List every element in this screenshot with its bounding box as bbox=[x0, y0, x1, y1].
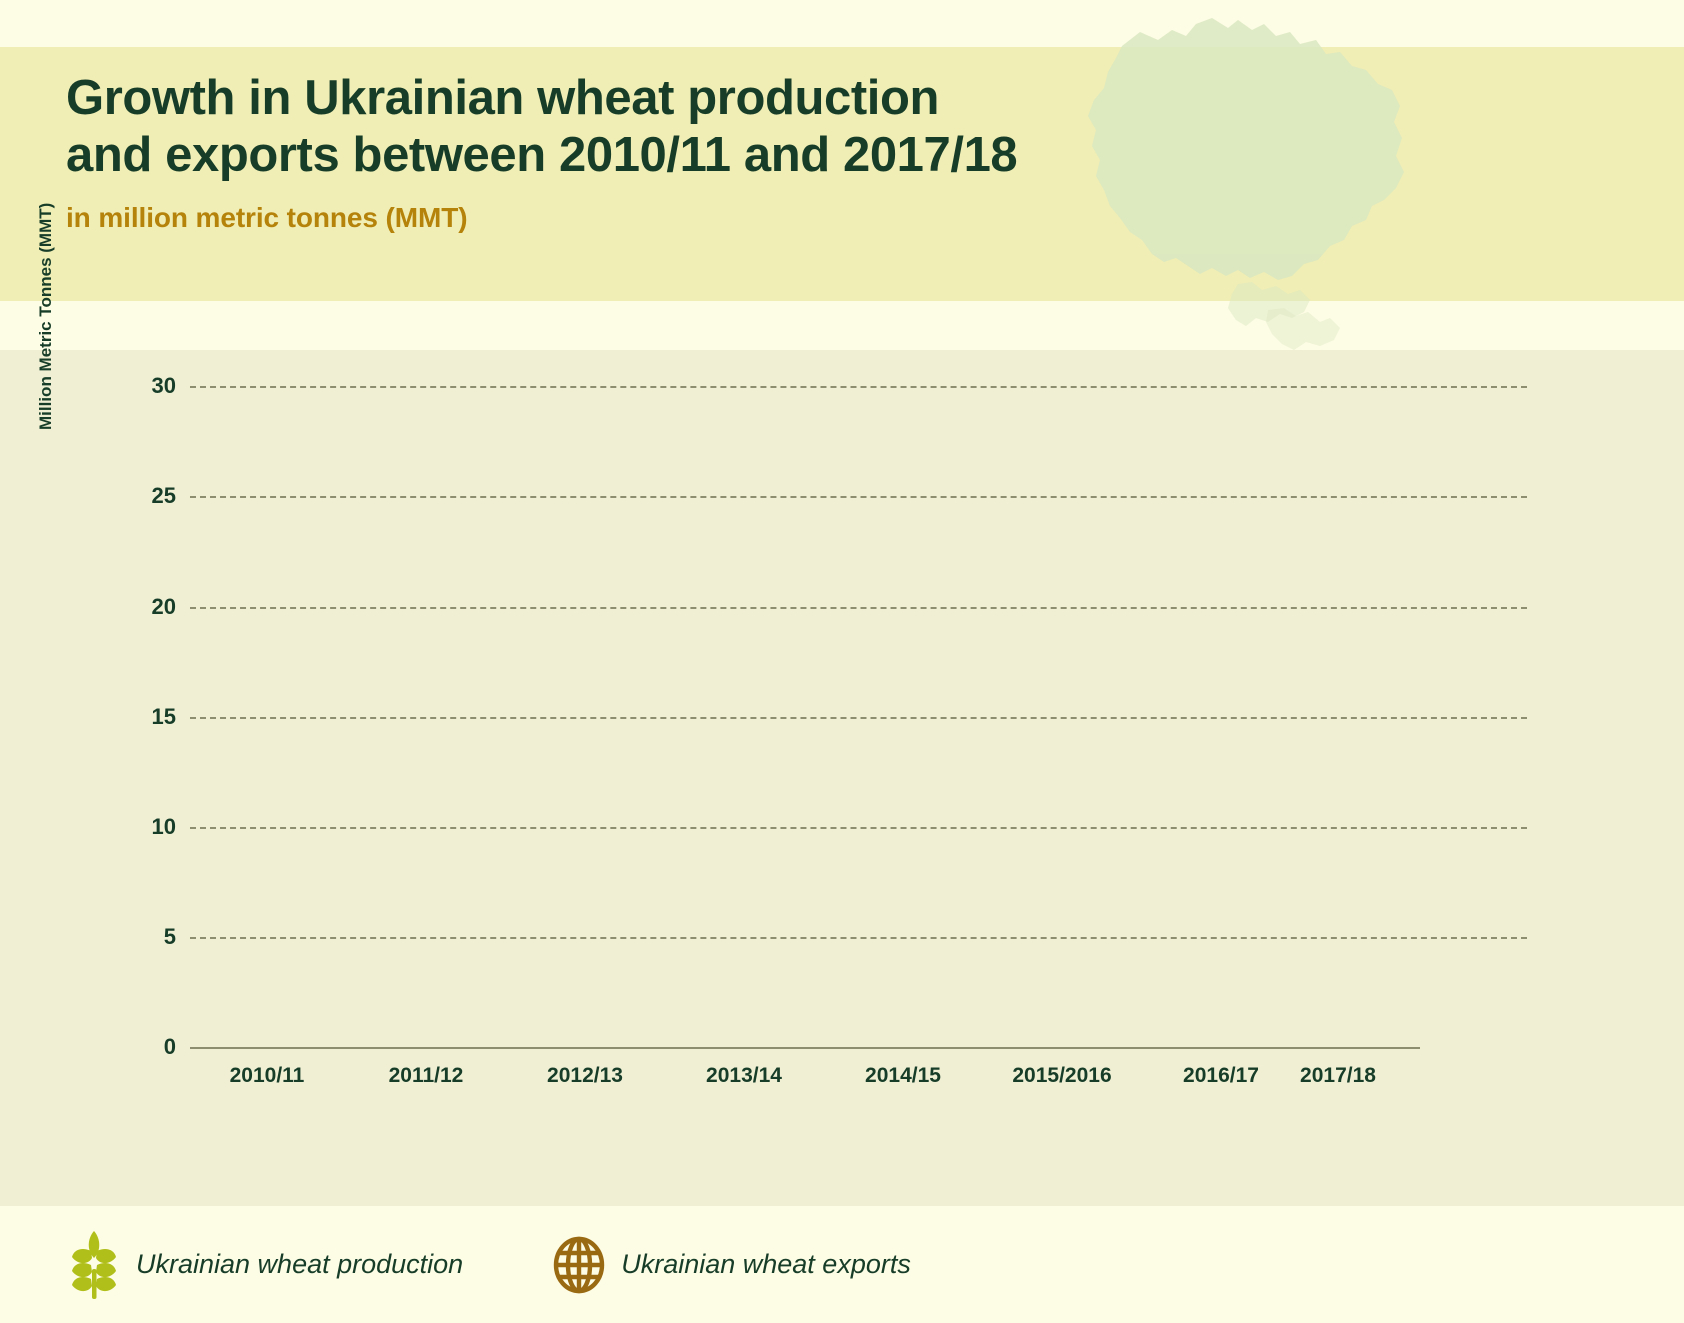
gridline-15 bbox=[190, 717, 1527, 719]
chart-legend: Ukrainian wheat production Ukrainian whe… bbox=[0, 1206, 1684, 1323]
y-tick-label-0: 0 bbox=[120, 1036, 176, 1058]
legend-label-production: Ukrainian wheat production bbox=[136, 1249, 463, 1280]
infographic-page: Growth in Ukrainian wheat production and… bbox=[0, 0, 1684, 1323]
gridline-20 bbox=[190, 607, 1527, 609]
y-tick-label-10: 10 bbox=[120, 816, 176, 838]
wheat-stalk-icon bbox=[66, 1230, 122, 1300]
y-axis-title: Million Metric Tonnes (MMT) bbox=[36, 90, 56, 430]
gridline-10 bbox=[190, 827, 1527, 829]
y-tick-label-30: 30 bbox=[120, 375, 176, 397]
y-tick-label-20: 20 bbox=[120, 596, 176, 618]
y-tick-label-5: 5 bbox=[120, 926, 176, 948]
legend-label-exports: Ukrainian wheat exports bbox=[621, 1249, 911, 1280]
x-axis-baseline bbox=[190, 1047, 1420, 1049]
title-block: Growth in Ukrainian wheat production and… bbox=[66, 70, 1266, 234]
legend-item-exports[interactable]: Ukrainian wheat exports bbox=[551, 1206, 911, 1323]
gridline-25 bbox=[190, 496, 1527, 498]
gridline-30 bbox=[190, 386, 1527, 388]
legend-item-production[interactable]: Ukrainian wheat production bbox=[66, 1206, 463, 1323]
page-title: Growth in Ukrainian wheat production and… bbox=[66, 70, 1266, 184]
y-tick-label-15: 15 bbox=[120, 706, 176, 728]
globe-icon bbox=[551, 1230, 607, 1300]
x-tick-label-2017-18: 2017/18 bbox=[1243, 1064, 1433, 1088]
page-subtitle: in million metric tonnes (MMT) bbox=[66, 202, 1266, 234]
y-tick-label-25: 25 bbox=[120, 485, 176, 507]
gridline-5 bbox=[190, 937, 1527, 939]
